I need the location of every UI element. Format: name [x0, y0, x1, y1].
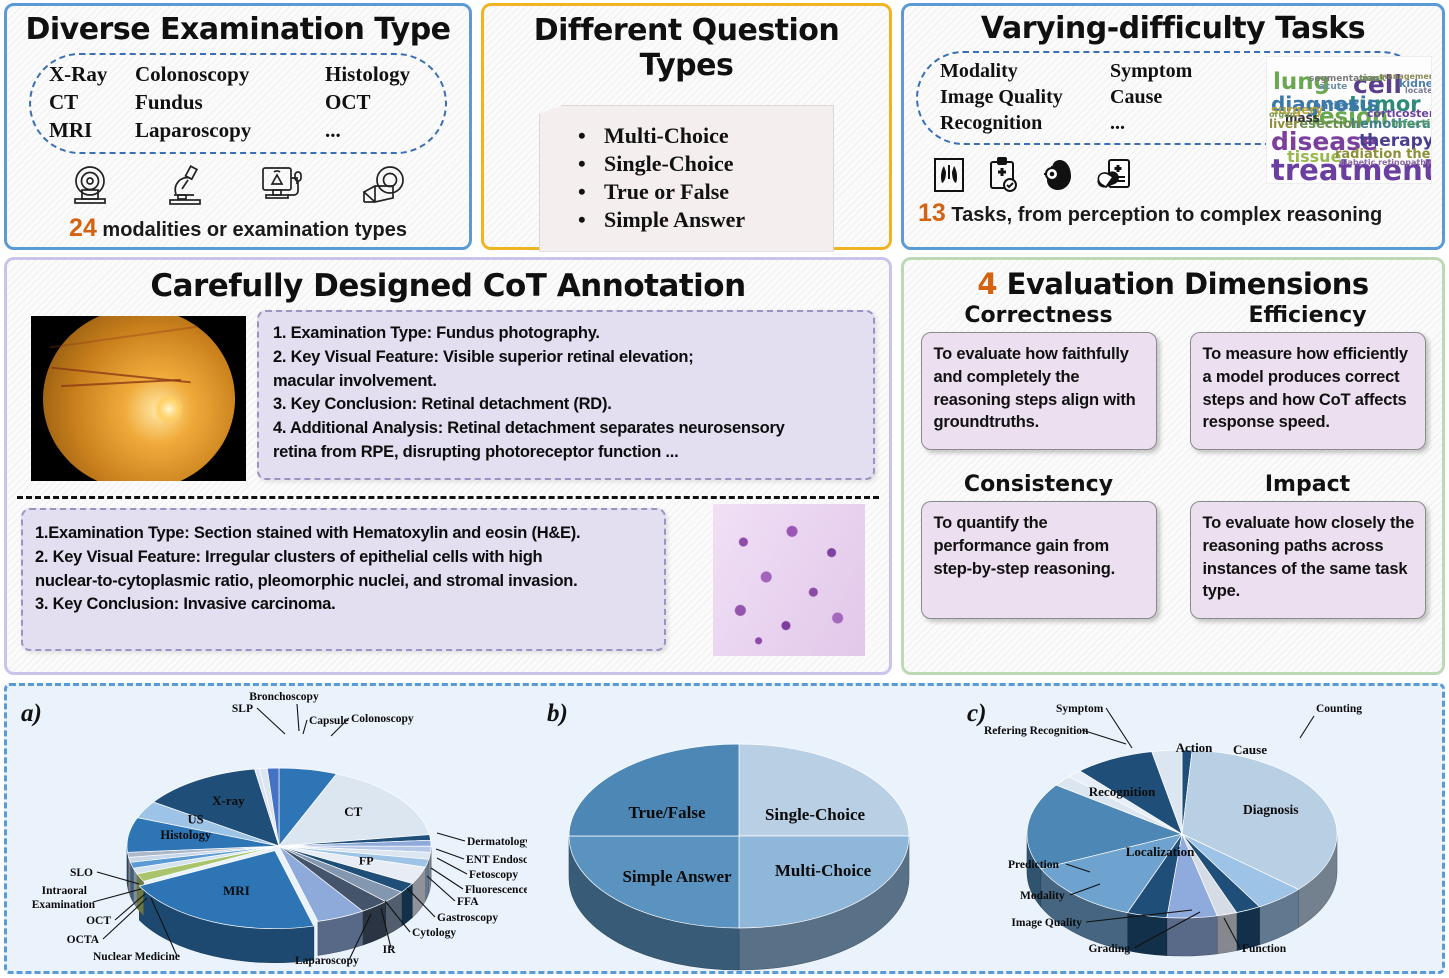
- pie-slice-label: Recognition: [1089, 784, 1156, 799]
- cot-line: 2. Key Visual Feature: Visible superior …: [273, 346, 861, 370]
- panel-title-cot: Carefully Designed CoT Annotation: [7, 268, 889, 304]
- cot-case-2: 1.Examination Type: Section stained with…: [7, 502, 889, 662]
- pie-slice-side: [1167, 916, 1217, 956]
- dimension-desc-box: To evaluate how closely the reasoning pa…: [1190, 501, 1426, 619]
- pie-callout-label: Dermatology: [467, 836, 527, 848]
- cot-line: 4. Additional Analysis: Retinal detachme…: [273, 417, 861, 441]
- cot-text-box-2: 1.Examination Type: Section stained with…: [21, 508, 666, 651]
- ultrasound-monitor-icon: [260, 164, 308, 206]
- fundus-photograph-image: [31, 316, 246, 481]
- pie-leader-line: [1300, 716, 1314, 738]
- modality-item: CT: [49, 90, 135, 115]
- question-types-box: Multi-Choice Single-Choice True or False…: [539, 105, 834, 252]
- pie-callout-label: Intraoral: [42, 885, 87, 897]
- dimension-correctness: Correctness To evaluate how faithfully a…: [921, 303, 1157, 450]
- pie-leader-line: [1082, 730, 1126, 744]
- modality-item: Colonoscopy: [135, 62, 325, 87]
- pie-callout-label: Bronchoscopy: [249, 691, 319, 703]
- pie-callout-label: ENT Endoscopy: [466, 854, 527, 866]
- clipboard-check-icon: [986, 157, 1020, 193]
- wordcloud-word: infection: [1391, 119, 1432, 129]
- dimension-desc: To quantify the performance gain from st…: [934, 512, 1146, 580]
- tasks-footer-text: Tasks, from perception to complex reason…: [946, 204, 1382, 226]
- pie-slice-label: FP: [359, 853, 374, 867]
- pie-leader-line: [303, 720, 307, 734]
- list-item: Multi-Choice: [564, 122, 823, 150]
- mri-machine-icon: [359, 164, 409, 206]
- pie-slice-label: True/False: [628, 803, 706, 822]
- pie-slice-label: Action: [1176, 740, 1214, 755]
- pie-callout-label: Capsule: [309, 715, 349, 727]
- dimension-consistency: Consistency To quantify the performance …: [921, 472, 1157, 619]
- dimension-desc: To evaluate how closely the reasoning pa…: [1203, 512, 1415, 603]
- pie-slice-label: X-ray: [212, 793, 245, 808]
- modality-item: ...: [325, 118, 427, 143]
- pie-callout-label: Prediction: [1008, 859, 1059, 871]
- pie-leader-line: [437, 858, 467, 874]
- panel-title-eval: 4 Evaluation Dimensions: [904, 267, 1442, 301]
- pie-slice: [569, 744, 739, 836]
- pie-slice-label: Multi-Choice: [775, 861, 872, 880]
- microscope-icon: [164, 164, 208, 206]
- pie-leader-line: [436, 849, 464, 859]
- cot-line: 1.Examination Type: Section stained with…: [35, 522, 654, 546]
- dimension-efficiency: Efficiency To measure how efficiently a …: [1190, 303, 1426, 450]
- pie-c-svg: DiagnosisLocalizationRecognitionActionCa…: [942, 686, 1442, 977]
- list-item: Simple Answer: [564, 206, 823, 234]
- pie-callout-label: Modality: [1020, 890, 1065, 902]
- wordcloud-word: management: [1379, 73, 1432, 81]
- dimension-desc-box: To evaluate how faithfully and completel…: [921, 332, 1157, 450]
- dimension-title: Consistency: [921, 472, 1157, 497]
- wordcloud-word: acute: [1319, 83, 1347, 92]
- cot-line: 3. Key Conclusion: Invasive carcinoma.: [35, 593, 654, 617]
- wordcloud-word: located: [1405, 87, 1432, 95]
- pie-callout-label: Counting: [1316, 703, 1362, 715]
- pie-callout-label: SLP: [232, 703, 253, 715]
- pie-slice-label: Single-Choice: [765, 805, 866, 824]
- modality-item: Fundus: [135, 90, 325, 115]
- pie-callout-label: Grading: [1088, 943, 1130, 955]
- pie-callout-label: Symptom: [1056, 703, 1104, 715]
- pie-callout-label: Examination: [32, 899, 96, 911]
- pie-leader-line: [297, 704, 299, 731]
- cot-line: retina from RPE, disrupting photorecepto…: [273, 441, 861, 465]
- panel-evaluation-dimensions: 4 Evaluation Dimensions Correctness To e…: [901, 257, 1445, 675]
- exam-footer: 24 modalities or examination types: [7, 214, 469, 243]
- cot-line: macular involvement.: [273, 370, 861, 394]
- panel-diverse-examination-type: Diverse Examination Type X-Ray Colonosco…: [4, 3, 472, 250]
- pie-slice-label: MRI: [223, 883, 250, 898]
- modality-item: X-Ray: [49, 62, 135, 87]
- pie-callout-label: Refering Recognition: [984, 725, 1089, 737]
- pie-callout-label: OCTA: [67, 934, 100, 946]
- tasks-count: 13: [918, 199, 946, 227]
- cot-case-1: 1. Examination Type: Fundus photography.…: [7, 304, 889, 490]
- pie-callout-label: Fluorescence: [465, 884, 527, 896]
- pie-callout-label: Function: [1242, 943, 1287, 955]
- evaluation-row-1: Correctness To evaluate how faithfully a…: [904, 303, 1442, 450]
- dimension-desc: To evaluate how faithfully and completel…: [934, 343, 1146, 434]
- dimension-title: Efficiency: [1190, 303, 1426, 328]
- pie-callout-label: FFA: [457, 896, 479, 908]
- modality-item: MRI: [49, 118, 135, 143]
- panel-different-question-types: Different Question Types Multi-Choice Si…: [481, 3, 892, 250]
- eval-title-text: Evaluation Dimensions: [997, 267, 1369, 301]
- pie-slice-label: Localization: [1126, 844, 1195, 859]
- dimension-desc-box: To quantify the performance gain from st…: [921, 501, 1157, 619]
- pie-callout-label: Fetoscopy: [469, 869, 518, 881]
- pie-leader-line: [437, 833, 465, 841]
- stomach-target-icon: [1040, 157, 1076, 193]
- panel-title-tasks: Varying-difficulty Tasks: [904, 11, 1442, 46]
- pie-callout-label: Laparoscopy: [295, 955, 359, 967]
- pie-callout-label: Image Quality: [1011, 917, 1082, 929]
- exam-footer-text: modalities or examination types: [97, 219, 407, 241]
- task-item: Image Quality: [940, 86, 1110, 109]
- evaluation-row-2: Consistency To quantify the performance …: [904, 472, 1442, 619]
- pie-callout-label: Gastroscopy: [437, 912, 498, 924]
- pie-a-svg: CTFPMRIHistologyUSX-rayBronchoscopySLPCa…: [7, 686, 527, 977]
- modalities-capsule: X-Ray Colonoscopy Histology CT Fundus OC…: [29, 53, 447, 154]
- pie-callout-label: Nuclear Medicine: [93, 951, 180, 963]
- cot-line: 1. Examination Type: Fundus photography.: [273, 322, 861, 346]
- dimension-desc: To measure how efficiently a model produ…: [1203, 343, 1415, 434]
- pie-slice-label: Simple Answer: [622, 867, 732, 886]
- eval-count: 4: [977, 267, 997, 301]
- task-item: Modality: [940, 60, 1110, 83]
- pie-leader-line: [431, 868, 463, 889]
- dimension-impact: Impact To evaluate how closely the reaso…: [1190, 472, 1426, 619]
- pie-chart-task-types: DiagnosisLocalizationRecognitionActionCa…: [942, 686, 1442, 977]
- question-types-list: Multi-Choice Single-Choice True or False…: [564, 122, 823, 235]
- histology-slide-image: [713, 504, 865, 656]
- pie-chart-modalities: CTFPMRIHistologyUSX-rayBronchoscopySLPCa…: [7, 686, 527, 977]
- cot-text-box-1: 1. Examination Type: Fundus photography.…: [257, 310, 875, 480]
- medical-wordcloud-image: treatmentdiseaselesioncelltumordiagnosis…: [1266, 56, 1432, 184]
- wordcloud-word: organ: [1269, 111, 1295, 119]
- ct-scanner-icon: [67, 164, 113, 206]
- cot-line: 3. Key Conclusion: Retinal detachment (R…: [273, 393, 861, 417]
- tasks-footer: 13 Tasks, from perception to complex rea…: [918, 199, 1442, 228]
- pie-callout-label: Colonoscopy: [351, 713, 414, 725]
- pie-callout-label: Cytology: [412, 927, 456, 939]
- pie-slice-label: Diagnosis: [1243, 802, 1299, 817]
- pie-callout-label: SLO: [70, 867, 93, 879]
- task-item: Recognition: [940, 112, 1110, 135]
- pie-callout-label: IR: [383, 944, 396, 956]
- pie-leader-line: [427, 876, 455, 901]
- chest-xray-icon: [932, 157, 966, 193]
- pie-slice-label: US: [188, 812, 204, 826]
- exam-count: 24: [69, 214, 97, 242]
- pie-slice-side: [1217, 913, 1236, 954]
- modality-item: Histology: [325, 62, 427, 87]
- dimension-desc-box: To measure how efficiently a model produ…: [1190, 332, 1426, 450]
- panel-title-qtype: Different Question Types: [484, 13, 889, 83]
- panel-varying-difficulty-tasks: Varying-difficulty Tasks Modality Sympto…: [901, 3, 1445, 250]
- list-item: True or False: [564, 178, 823, 206]
- pie-callout-label: OCT: [86, 915, 111, 927]
- cot-line: 2. Key Visual Feature: Irregular cluster…: [35, 546, 654, 570]
- pill-report-icon: [1096, 157, 1132, 193]
- list-item: Single-Choice: [564, 150, 823, 178]
- modality-item: Laparoscopy: [135, 118, 325, 143]
- wordcloud-word: liver: [1269, 119, 1299, 130]
- pie-chart-question-types: Single-ChoiceMulti-ChoiceSimple AnswerTr…: [527, 686, 947, 977]
- dimension-title: Correctness: [921, 303, 1157, 328]
- wordcloud-word: diabetic retinopathy: [1339, 159, 1431, 167]
- panel-distribution-charts: a) b) c) CTFPMRIHistologyUSX-rayBronchos…: [4, 683, 1445, 974]
- cot-line: nuclear-to-cytoplasmic ratio, pleomorphi…: [35, 570, 654, 594]
- tasks-icon-row: [922, 157, 1142, 193]
- pie-slice-label: Histology: [160, 828, 211, 842]
- dimension-title: Impact: [1190, 472, 1426, 497]
- modalities-grid: X-Ray Colonoscopy Histology CT Fundus OC…: [49, 62, 427, 143]
- panel-title-exam: Diverse Examination Type: [7, 12, 469, 47]
- panel-cot-annotation: Carefully Designed CoT Annotation 1. Exa…: [4, 257, 892, 675]
- pie-slice-label: CT: [344, 804, 362, 819]
- cot-divider: [17, 496, 879, 499]
- pie-slice-label: Cause: [1233, 742, 1267, 757]
- exam-icon-row: [41, 164, 435, 206]
- pie-leader-line: [257, 708, 285, 734]
- modality-item: OCT: [325, 90, 427, 115]
- pie-slice-side: [1127, 913, 1166, 956]
- wordcloud-word: tissue: [1287, 149, 1341, 164]
- pie-b-svg: Single-ChoiceMulti-ChoiceSimple AnswerTr…: [527, 686, 947, 977]
